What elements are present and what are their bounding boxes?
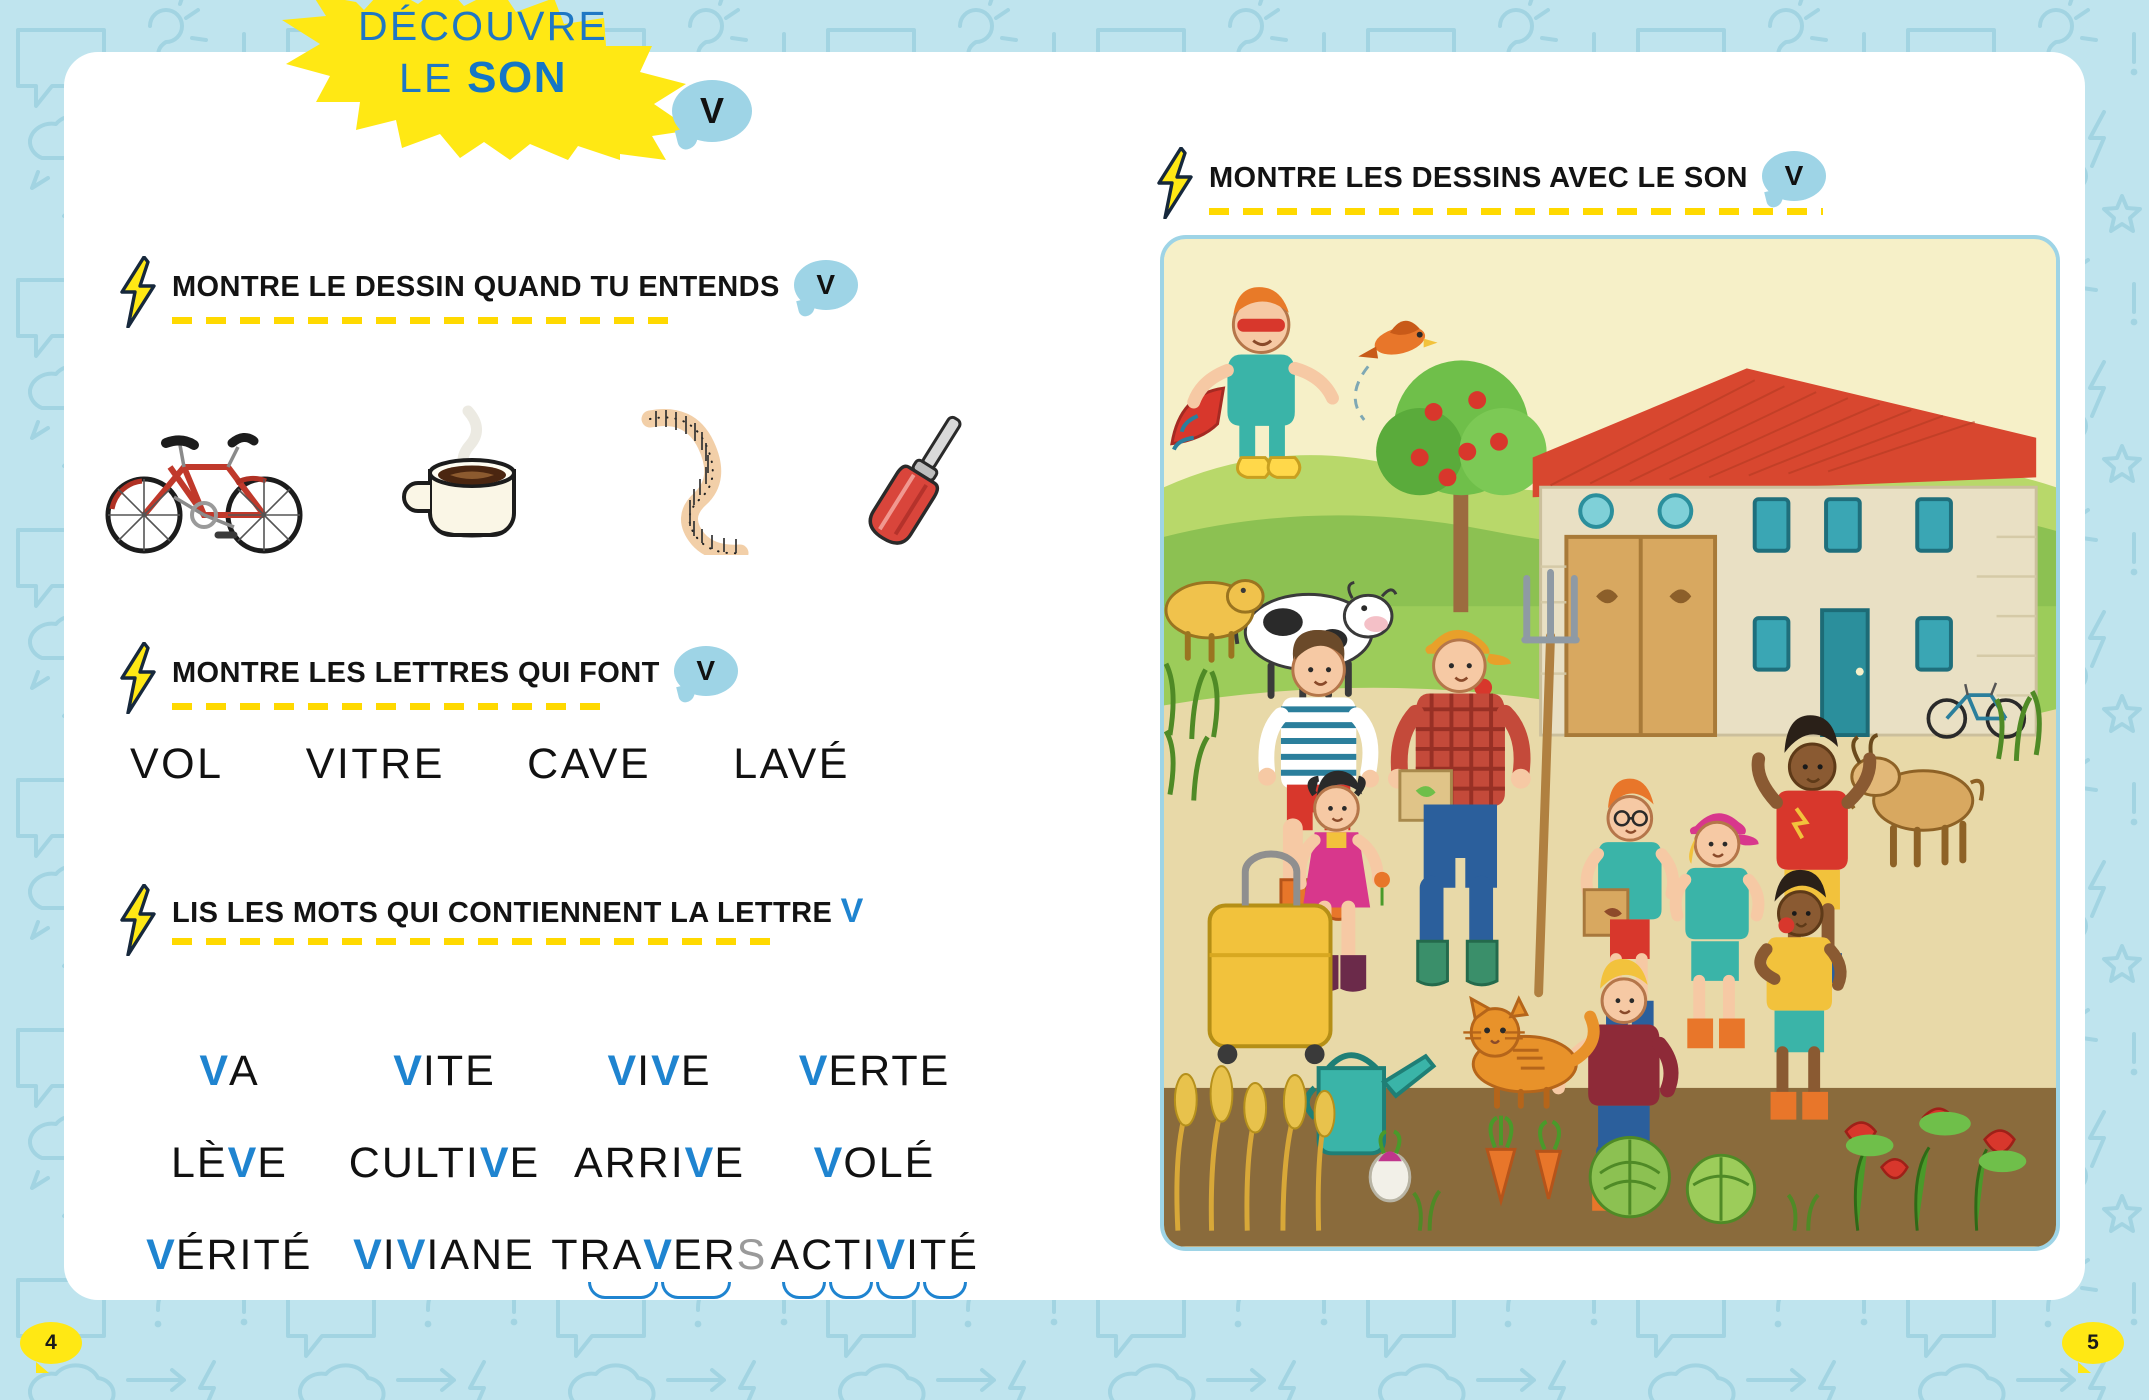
- syllable-arcs: [551, 1282, 767, 1299]
- lightning-bolt-icon: [118, 884, 158, 956]
- syllable-arc: [588, 1282, 658, 1299]
- letter-words-row: VOL VITRE CAVE LAVÉ: [130, 740, 850, 789]
- task2-dashed-underline: [172, 703, 604, 710]
- word-travers[interactable]: TRAVERS: [551, 1231, 767, 1280]
- header-starburst: DÉCOUVRE LE SON: [268, 0, 698, 160]
- lightning-bolt-icon: [118, 256, 158, 328]
- lightning-bolt-icon: [1155, 147, 1195, 219]
- letter-word-cave[interactable]: CAVE: [527, 740, 651, 789]
- header-title-line1: DÉCOUVRE: [268, 6, 698, 48]
- word-cell: VERTE: [767, 1047, 982, 1096]
- task1-sound-letter: V: [816, 269, 835, 300]
- word-activite[interactable]: ACTIVITÉ: [770, 1231, 979, 1280]
- word-cell: LÈVE: [122, 1139, 337, 1188]
- word-cell: VOLÉ: [767, 1139, 982, 1188]
- task4-sound-letter: V: [1785, 160, 1804, 191]
- word-cell: ACTIVITÉ: [767, 1231, 982, 1280]
- word-vive[interactable]: VIVE: [607, 1047, 711, 1096]
- earthworm-icon[interactable]: [636, 405, 766, 555]
- header-title-line2: LE SON: [268, 56, 698, 101]
- task2-label: MONTRE LES LETTRES QUI FONT: [172, 657, 660, 690]
- page-number-left: 4: [20, 1322, 82, 1364]
- syllable-arc: [782, 1282, 826, 1299]
- syllable-arc: [829, 1282, 873, 1299]
- word-cell: VA: [122, 1047, 337, 1096]
- page-number-right: 5: [2062, 1322, 2124, 1364]
- task3-inline-letter: V: [841, 892, 864, 930]
- task4-dashed-underline: [1209, 208, 1823, 215]
- word-cultive[interactable]: CULTIVE: [349, 1139, 540, 1188]
- word-cell: VIVIANE: [337, 1231, 552, 1280]
- syllable-arc: [661, 1282, 731, 1299]
- task2-sound-letter: V: [696, 655, 715, 686]
- header-sound-bubble: V: [672, 80, 752, 142]
- task4-sound-bubble: V: [1762, 151, 1826, 201]
- word-cell: ARRIVE: [552, 1139, 767, 1188]
- task2-sound-bubble: V: [674, 646, 738, 696]
- task-lis-les-mots: LIS LES MOTS QUI CONTIENNENT LA LETTRE V: [118, 892, 864, 956]
- word-cell: CULTIVE: [337, 1139, 552, 1188]
- word-va[interactable]: VA: [199, 1047, 259, 1096]
- header-sound-letter: V: [700, 90, 724, 131]
- word-verte[interactable]: VERTE: [799, 1047, 951, 1096]
- task1-dashed-underline: [172, 317, 676, 324]
- syllable-arc: [876, 1282, 920, 1299]
- task-montre-le-dessin: MONTRE LE DESSIN QUAND TU ENTENDS V: [118, 264, 858, 328]
- header-title-strong: SON: [467, 53, 567, 102]
- word-grid-row-2: LÈVE CULTIVE ARRIVE VOLÉ: [122, 1117, 982, 1209]
- word-leve[interactable]: LÈVE: [171, 1139, 288, 1188]
- letter-word-lave[interactable]: LAVÉ: [733, 740, 850, 789]
- task4-label: MONTRE LES DESSINS AVEC LE SON: [1209, 162, 1748, 195]
- task1-label: MONTRE LE DESSIN QUAND TU ENTENDS: [172, 271, 780, 304]
- farm-scene-illustration[interactable]: [1160, 235, 2060, 1251]
- word-vite[interactable]: VITE: [393, 1047, 496, 1096]
- task-montre-les-dessins: MONTRE LES DESSINS AVEC LE SON V: [1155, 155, 1826, 219]
- task3-dashed-underline: [172, 938, 770, 945]
- word-arrive[interactable]: ARRIVE: [574, 1139, 745, 1188]
- task-montre-les-lettres: MONTRE LES LETTRES QUI FONT V: [118, 650, 738, 714]
- word-grid-row-3: VÉRITÉ VIVIANE TRAVERS ACTIVITÉ: [122, 1209, 982, 1301]
- syllable-arcs: [770, 1282, 979, 1299]
- lightning-bolt-icon: [118, 642, 158, 714]
- word-cell: VÉRITÉ: [122, 1231, 337, 1280]
- word-vole[interactable]: VOLÉ: [814, 1139, 936, 1188]
- reading-words-grid: VA VITE VIVE VERTE LÈVE CULTIVE ARRIVE V…: [122, 1025, 982, 1301]
- letter-word-vitre[interactable]: VITRE: [306, 740, 445, 789]
- word-viviane[interactable]: VIVIANE: [353, 1231, 535, 1280]
- bicycle-icon[interactable]: [100, 423, 308, 555]
- letter-word-vol[interactable]: VOL: [130, 740, 224, 789]
- word-cell: VIVE: [552, 1047, 767, 1096]
- word-grid-row-1: VA VITE VIVE VERTE: [122, 1025, 982, 1117]
- coffee-cup-icon[interactable]: [402, 405, 542, 555]
- task3-label-text: LIS LES MOTS QUI CONTIENNENT LA LETTRE: [172, 897, 832, 929]
- picture-choices-row: [100, 355, 980, 555]
- word-cell: TRAVERS: [551, 1231, 767, 1280]
- syllable-arc: [923, 1282, 967, 1299]
- task1-sound-bubble: V: [794, 260, 858, 310]
- header-title-block: DÉCOUVRE LE SON: [268, 6, 698, 101]
- screwdriver-icon[interactable]: [860, 405, 980, 555]
- header-title-prefix: LE: [399, 55, 467, 101]
- word-verite[interactable]: VÉRITÉ: [146, 1231, 312, 1280]
- word-cell: VITE: [337, 1047, 552, 1096]
- task3-label: LIS LES MOTS QUI CONTIENNENT LA LETTRE V: [172, 892, 864, 931]
